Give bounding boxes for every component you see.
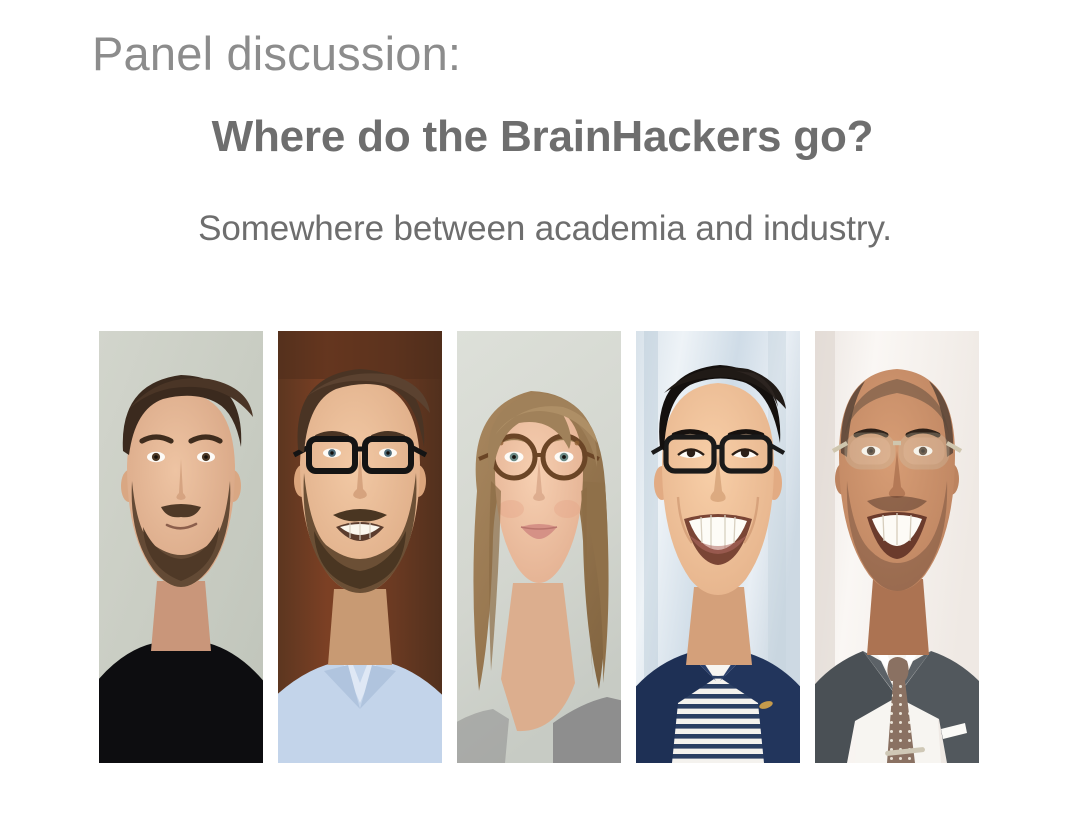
slide-canvas: Panel discussion: Where do the BrainHack… [0, 0, 1080, 827]
slide-subtitle: Somewhere between academia and industry. [150, 193, 940, 264]
panelist-photo-4 [636, 331, 800, 763]
panelist-photo-2 [278, 331, 442, 763]
page-title: Where do the BrainHackers go? [120, 108, 965, 166]
panelist-photo-5 [815, 331, 979, 763]
slide-eyebrow-text: Panel discussion: [92, 24, 461, 84]
panelist-photo-1 [99, 331, 263, 763]
panelist-photo-strip [99, 331, 983, 763]
title-block: Panel discussion: Where do the BrainHack… [0, 0, 1080, 331]
panelist-photo-3 [457, 331, 621, 763]
